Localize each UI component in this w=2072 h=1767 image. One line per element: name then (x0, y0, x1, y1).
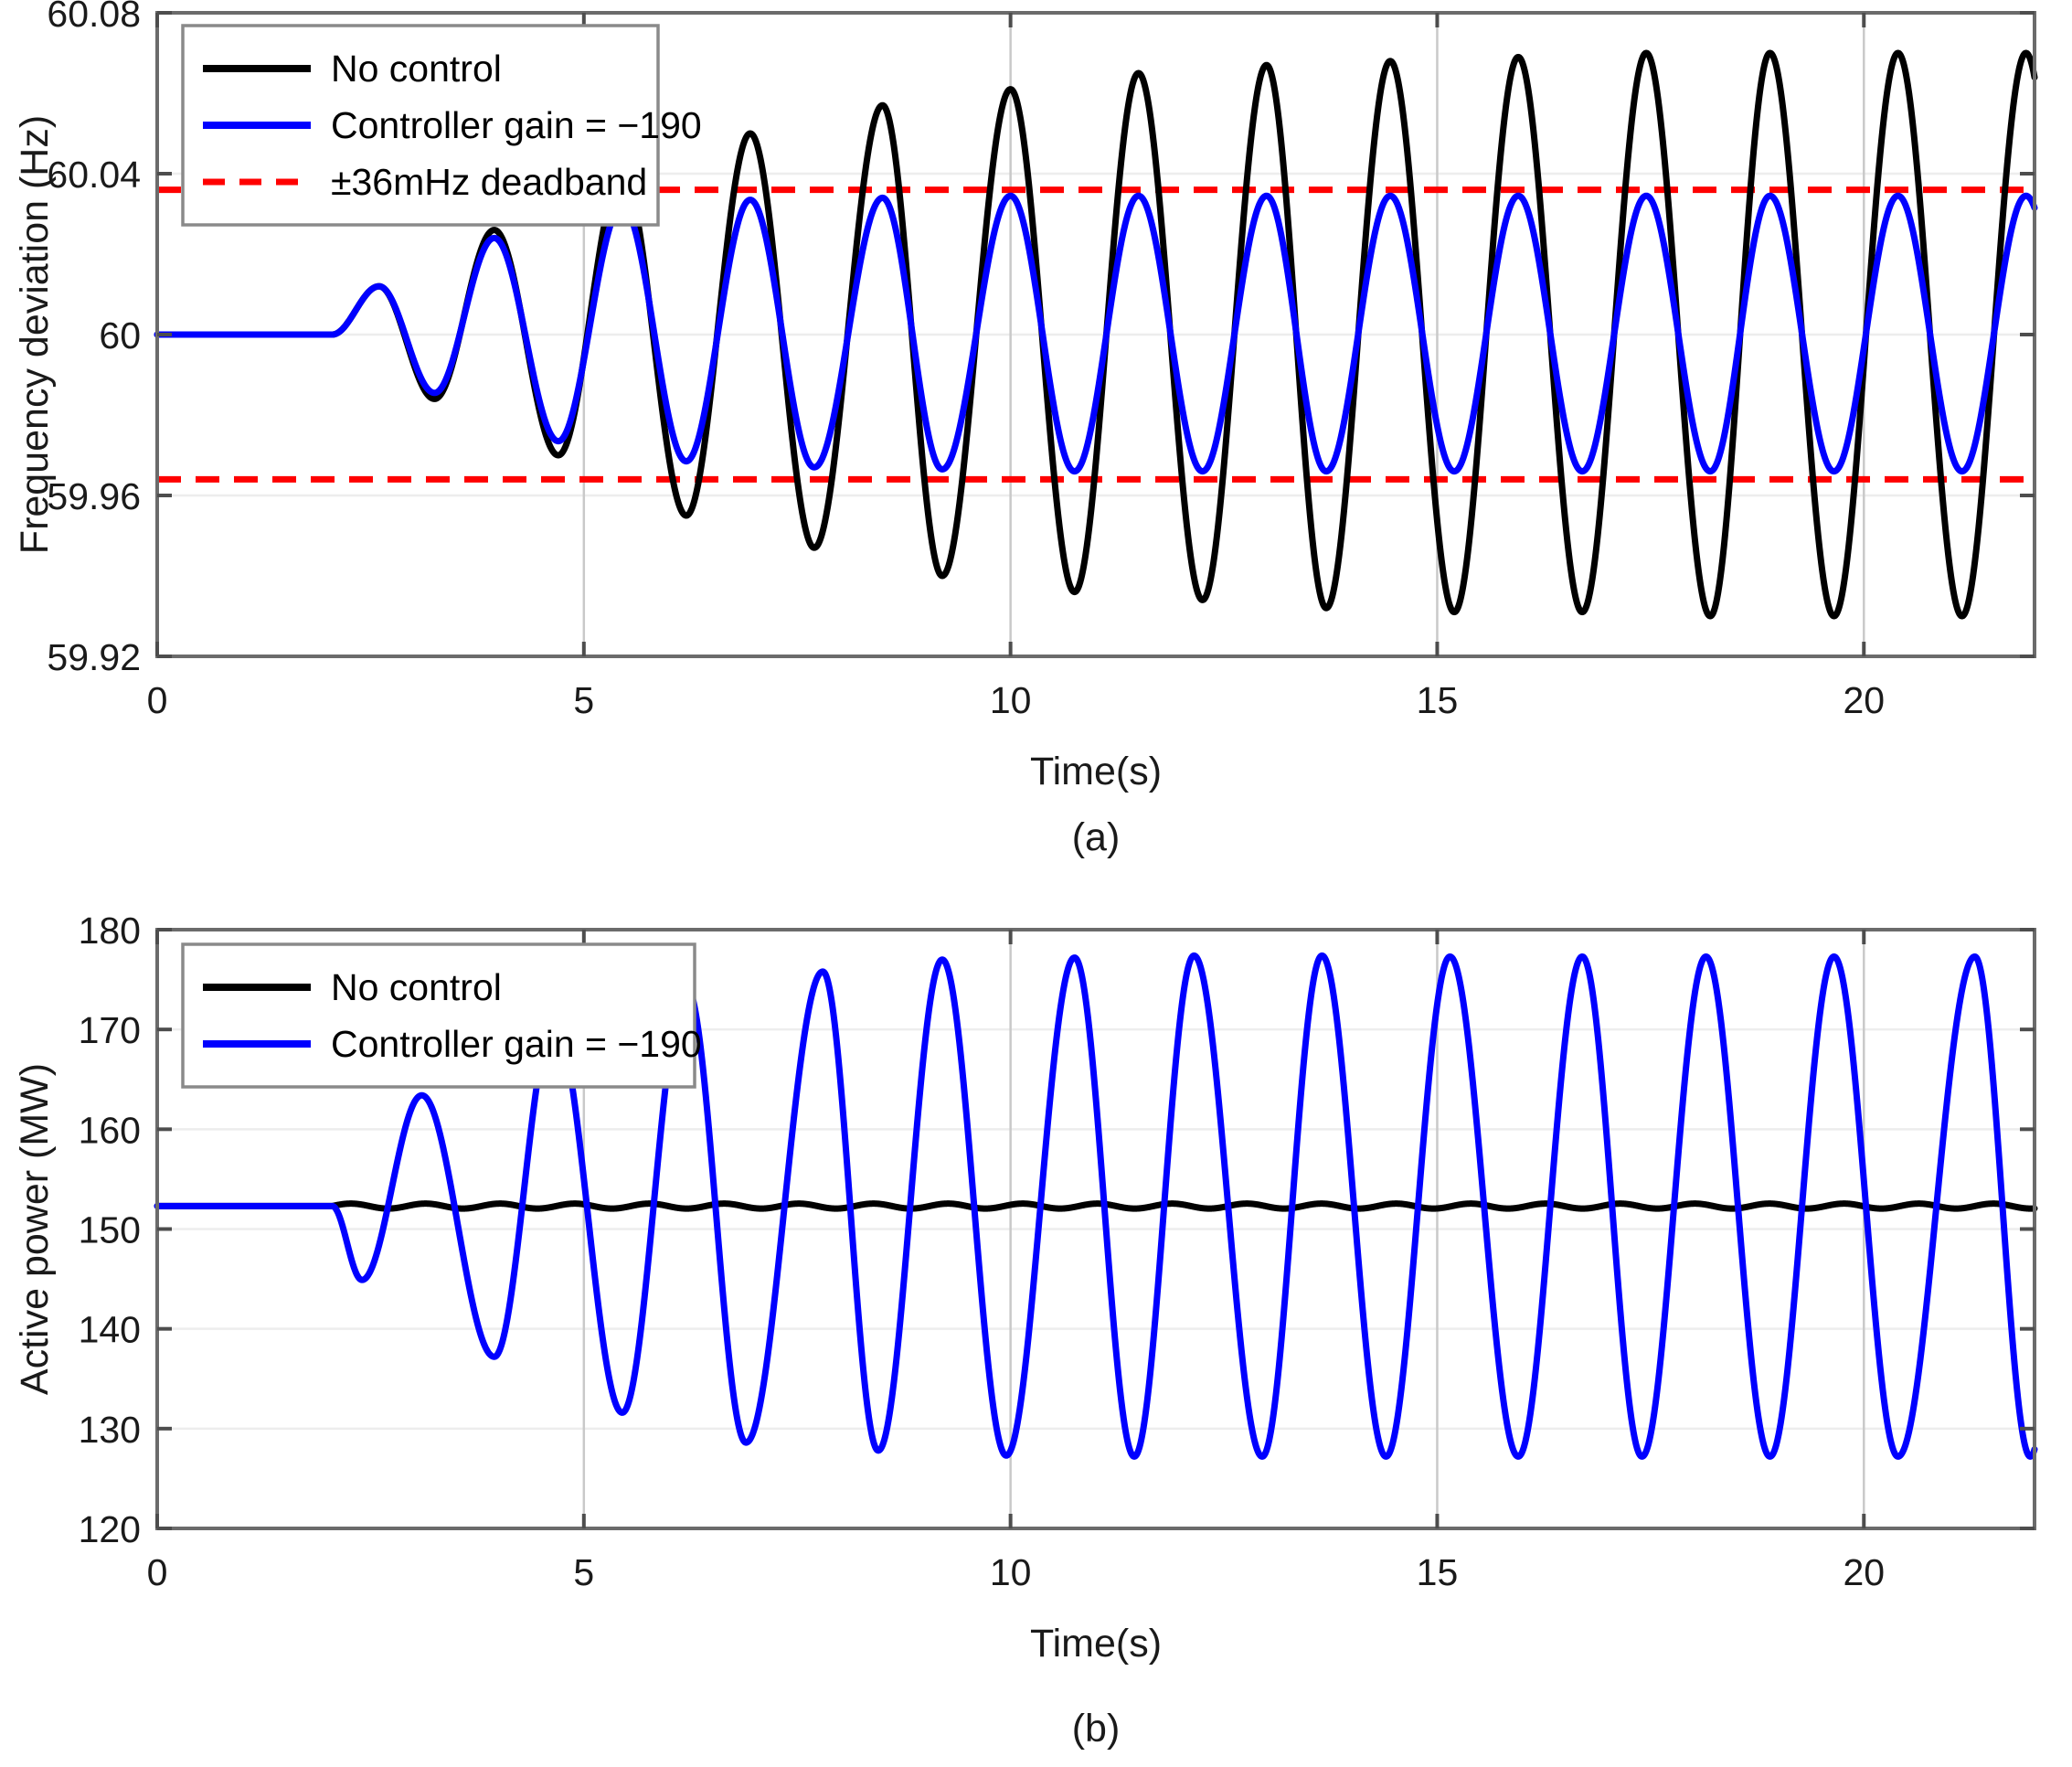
y-tick-label: 130 (79, 1409, 141, 1451)
x-tick-label: 0 (147, 679, 168, 721)
x-tick-label: 10 (990, 1551, 1032, 1593)
x-tick-label: 20 (1843, 679, 1885, 721)
y-tick-label: 180 (79, 910, 141, 952)
x-tick-label: 5 (573, 1551, 594, 1593)
x-tick-label: 20 (1843, 1551, 1885, 1593)
legend-label: Controller gain = −190 (331, 1023, 702, 1065)
legend-label: No control (331, 966, 502, 1008)
chart-panel-b: 12013014015016017018005101520Time(s)Acti… (0, 873, 2072, 1767)
x-tick-label: 5 (573, 679, 594, 721)
figure-container: 59.9259.966060.0460.0805101520Time(s)Fre… (0, 0, 2072, 1767)
frequency-deviation-chart: 59.9259.966060.0460.0805101520Time(s)Fre… (0, 0, 2072, 868)
legend-label: Controller gain = −190 (331, 104, 702, 146)
y-tick-label: 59.92 (47, 636, 141, 678)
y-tick-label: 150 (79, 1209, 141, 1251)
x-tick-label: 10 (990, 679, 1032, 721)
x-tick-label: 0 (147, 1551, 168, 1593)
x-tick-label: 15 (1417, 679, 1459, 721)
y-tick-label: 60.08 (47, 0, 141, 35)
y-axis-label: Active power (MW) (13, 1063, 57, 1395)
y-tick-label: 140 (79, 1309, 141, 1351)
y-tick-label: 120 (79, 1508, 141, 1550)
panel-caption: (b) (1072, 1707, 1121, 1751)
panel-caption: (a) (1072, 815, 1121, 859)
y-tick-label: 160 (79, 1109, 141, 1151)
y-tick-label: 59.96 (47, 475, 141, 517)
active-power-chart: 12013014015016017018005101520Time(s)Acti… (0, 873, 2072, 1767)
legend: No controlController gain = −190 (183, 944, 702, 1087)
legend-label: ±36mHz deadband (331, 161, 647, 203)
y-tick-label: 170 (79, 1009, 141, 1051)
x-tick-label: 15 (1417, 1551, 1459, 1593)
legend: No controlController gain = −190±36mHz d… (183, 26, 702, 225)
y-tick-label: 60 (99, 314, 141, 357)
x-axis-label: Time(s) (1030, 1622, 1162, 1666)
chart-panel-a: 59.9259.966060.0460.0805101520Time(s)Fre… (0, 0, 2072, 868)
legend-label: No control (331, 48, 502, 90)
y-tick-label: 60.04 (47, 154, 141, 196)
x-axis-label: Time(s) (1030, 750, 1162, 793)
y-axis-label: Frequency deviation (Hz) (13, 115, 57, 554)
